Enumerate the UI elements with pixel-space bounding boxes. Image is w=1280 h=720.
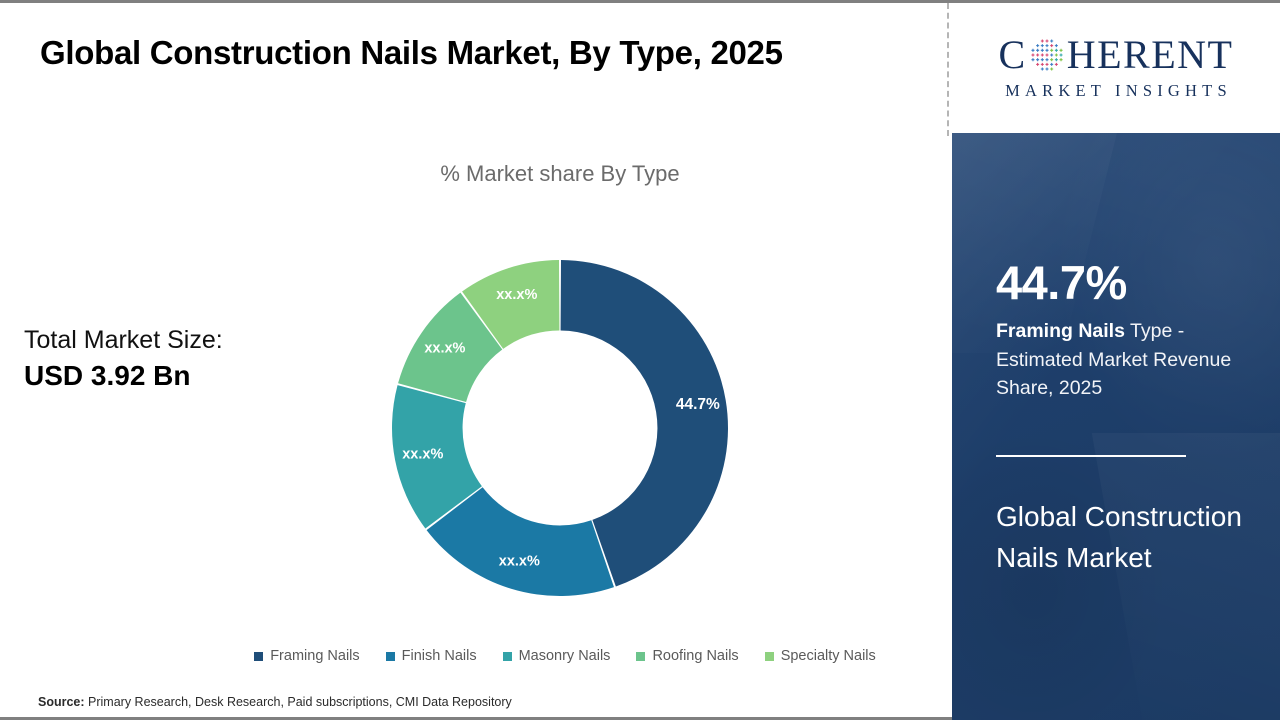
donut-slice-label: 44.7% [676, 396, 720, 413]
legend-swatch-icon [765, 652, 774, 661]
source-text: Primary Research, Desk Research, Paid su… [85, 695, 512, 709]
legend-item[interactable]: Finish Nails [386, 648, 477, 664]
logo-tagline: MARKET INSIGHTS [1000, 81, 1232, 101]
vertical-dashed-divider [947, 3, 949, 136]
legend-item[interactable]: Framing Nails [254, 648, 359, 664]
logo-wordmark: C HERENT [999, 35, 1234, 75]
legend-item-label: Roofing Nails [652, 648, 738, 664]
legend-item-label: Masonry Nails [519, 648, 611, 664]
logo-letter-c: C [999, 35, 1027, 75]
donut-chart-svg: 44.7%xx.x%xx.x%xx.x%xx.x% [360, 228, 760, 628]
chart-panel: Global Construction Nails Market, By Typ… [0, 3, 947, 717]
highlight-caption: Framing Nails Type - Estimated Market Re… [996, 317, 1246, 402]
highlight-caption-bold: Framing Nails [996, 320, 1125, 342]
donut-slices [392, 260, 728, 596]
highlight-stat-block: 44.7% Framing Nails Type - Estimated Mar… [996, 258, 1246, 402]
legend-swatch-icon [503, 652, 512, 661]
source-prefix: Source: [38, 695, 85, 709]
legend-swatch-icon [254, 652, 263, 661]
total-market-size-value: USD 3.92 Bn [24, 358, 324, 394]
chart-legend: Framing NailsFinish NailsMasonry NailsRo… [200, 648, 930, 664]
legend-item[interactable]: Masonry Nails [503, 648, 611, 664]
donut-chart: 44.7%xx.x%xx.x%xx.x%xx.x% [360, 228, 760, 628]
legend-swatch-icon [386, 652, 395, 661]
logo-word-herent: HERENT [1067, 35, 1234, 75]
legend-item-label: Finish Nails [402, 648, 477, 664]
total-market-size-block: Total Market Size: USD 3.92 Bn [24, 325, 324, 395]
donut-slice-label: xx.x% [424, 341, 465, 357]
legend-item-label: Framing Nails [270, 648, 359, 664]
legend-item[interactable]: Roofing Nails [636, 648, 738, 664]
chart-subtitle: % Market share By Type [250, 161, 870, 187]
brand-logo: C HERENT MARKET INSIGHTS [952, 3, 1280, 133]
donut-slice-label: xx.x% [499, 554, 540, 570]
legend-swatch-icon [636, 652, 645, 661]
source-note: Source: Primary Research, Desk Research,… [38, 695, 512, 709]
highlight-panel: 44.7% Framing Nails Type - Estimated Mar… [952, 133, 1280, 720]
donut-slice-label: xx.x% [402, 446, 443, 462]
total-market-size-label: Total Market Size: [24, 325, 324, 356]
panel-divider-rule [996, 455, 1186, 457]
highlight-percent: 44.7% [996, 258, 1246, 307]
legend-item-label: Specialty Nails [781, 648, 876, 664]
panel-market-name: Global Construction Nails Market [996, 496, 1251, 579]
donut-slice-label: xx.x% [496, 287, 537, 303]
legend-item[interactable]: Specialty Nails [765, 648, 876, 664]
page-title: Global Construction Nails Market, By Typ… [40, 33, 920, 73]
globe-icon [1029, 37, 1065, 73]
infographic-root: Global Construction Nails Market, By Typ… [0, 0, 1280, 720]
